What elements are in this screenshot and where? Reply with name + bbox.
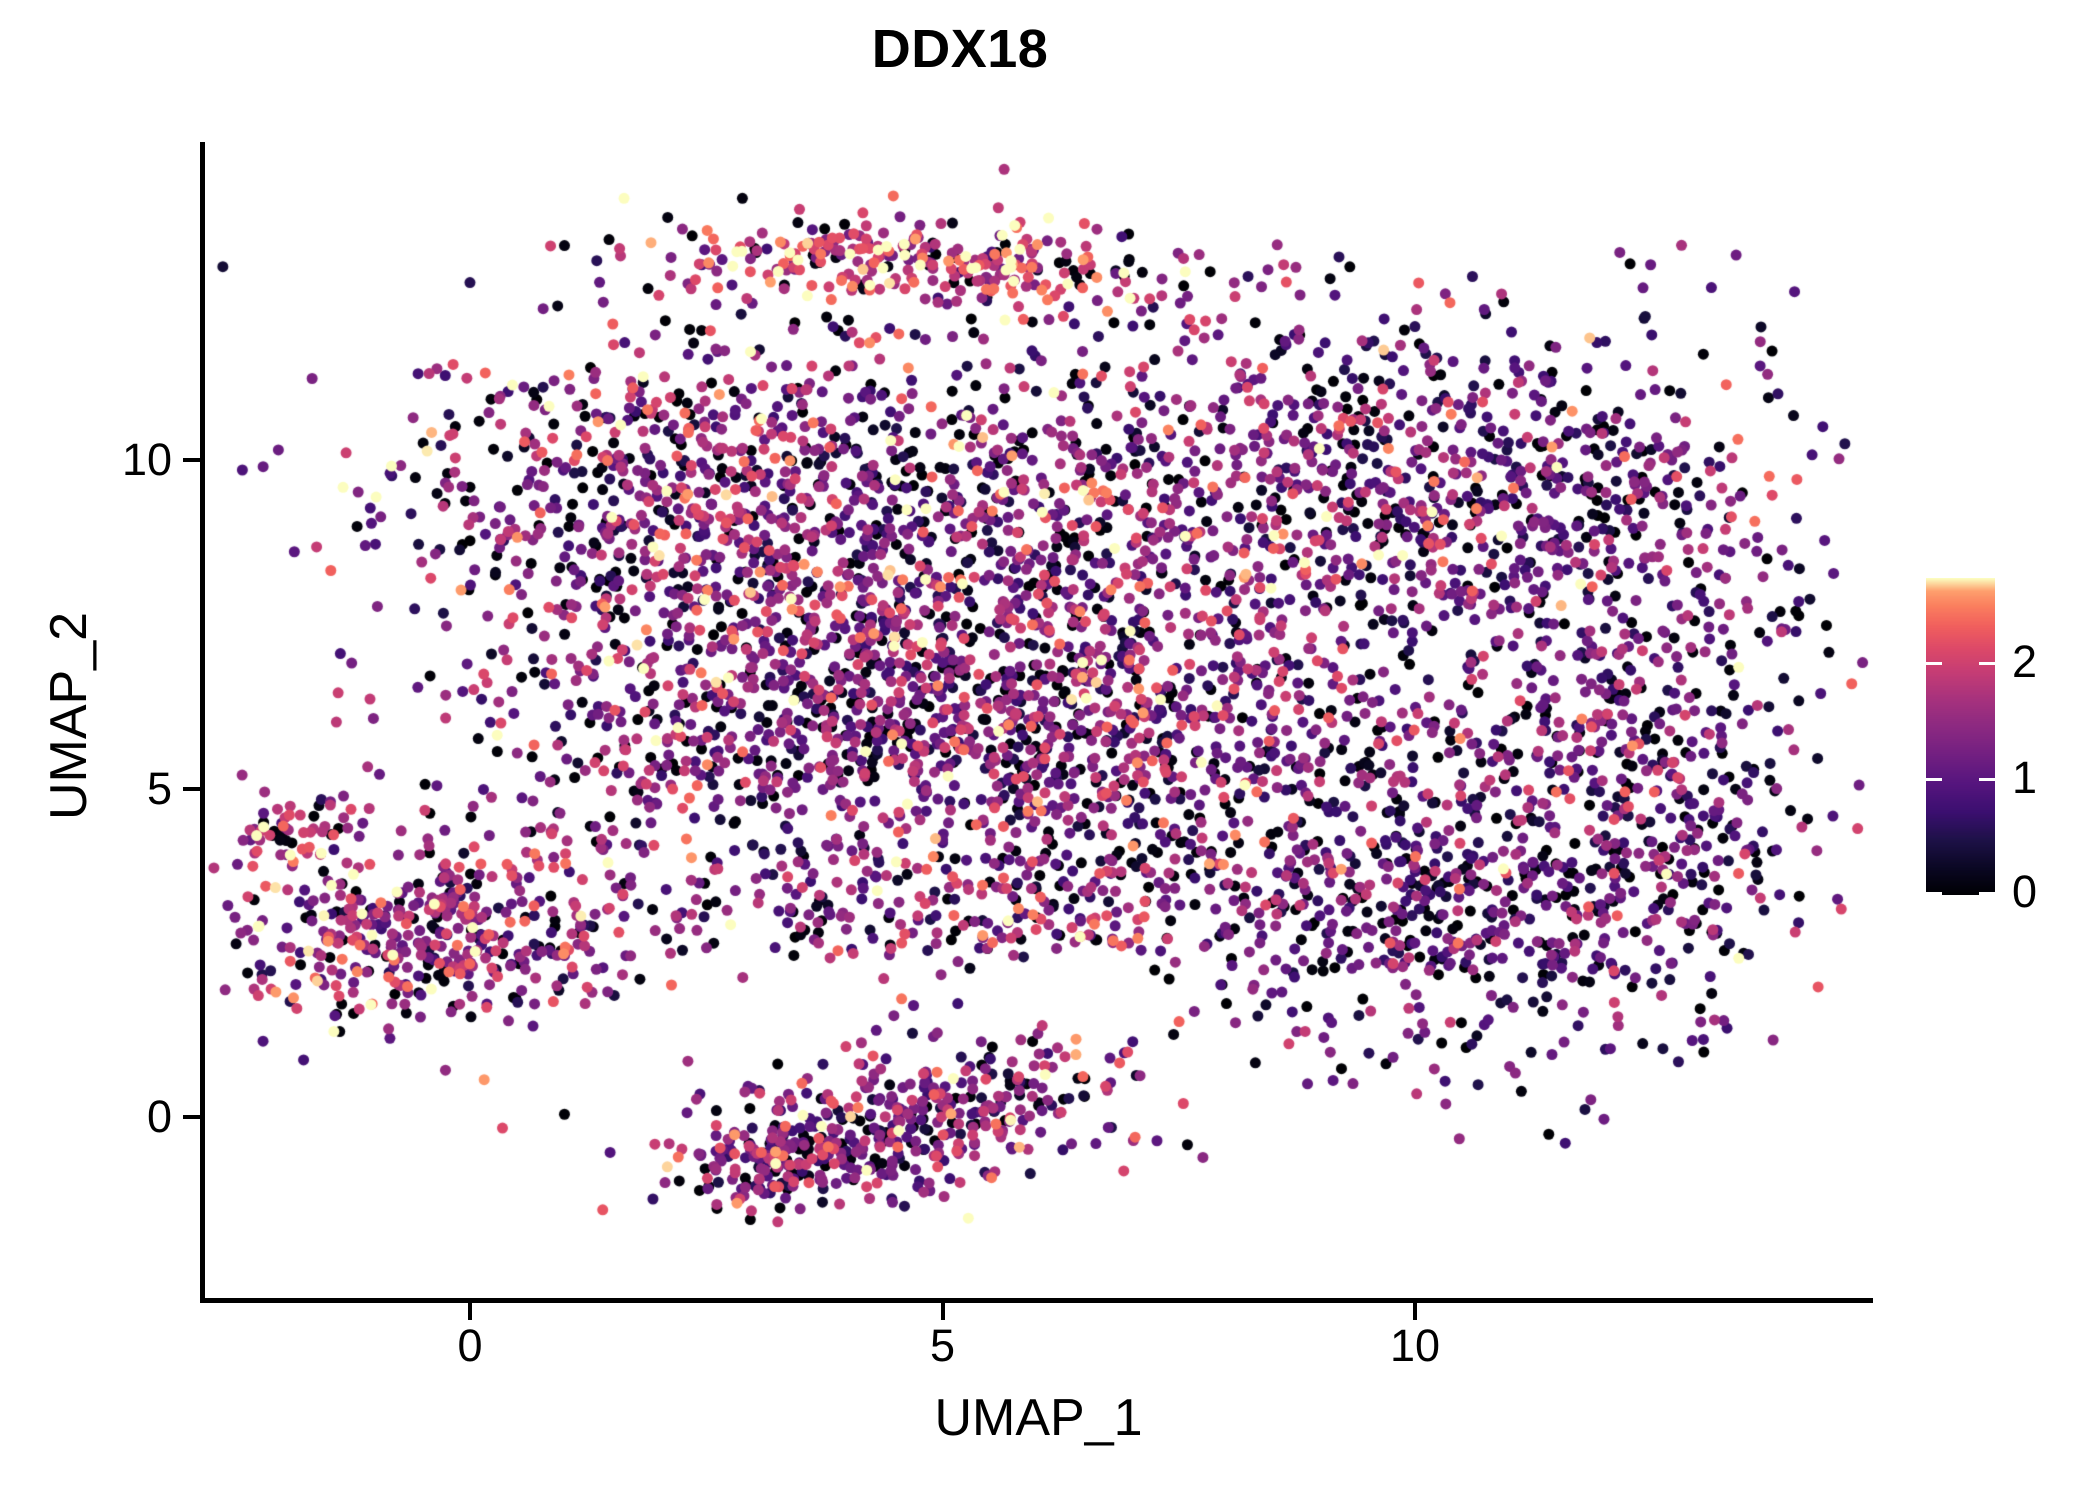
colorbar-gradient — [1926, 578, 1995, 895]
colorbar-tick-mark — [1926, 662, 1942, 665]
y-axis-title: UMAP_2 — [43, 137, 95, 1295]
plot-panel — [204, 142, 1873, 1300]
y-tick-mark — [183, 1115, 200, 1119]
y-axis-line — [200, 142, 205, 1303]
x-tick-mark — [941, 1303, 945, 1320]
colorbar-tick-mark — [1926, 892, 1942, 895]
page-title: DDX18 — [0, 22, 1920, 76]
x-axis-title: UMAP_1 — [204, 1392, 1873, 1444]
x-tick-mark — [468, 1303, 472, 1320]
colorbar-tick-label: 1 — [2012, 755, 2037, 800]
x-tick-label: 0 — [390, 1323, 550, 1368]
x-axis-line — [200, 1298, 1873, 1303]
colorbar-tick-label: 0 — [2012, 869, 2037, 914]
y-tick-mark — [183, 458, 200, 462]
colorbar-legend: 012 — [1926, 578, 2096, 898]
x-tick-mark — [1413, 1303, 1417, 1320]
colorbar-tick-mark — [1979, 778, 1995, 781]
chart-root: DDX18 0510 0510 UMAP_1 UMAP_2 012 — [0, 0, 2100, 1500]
scatter-plot-canvas — [204, 142, 1873, 1300]
colorbar-tick-mark — [1979, 892, 1995, 895]
y-tick-mark — [183, 787, 200, 791]
colorbar-tick-mark — [1926, 778, 1942, 781]
colorbar-tick-mark — [1979, 662, 1995, 665]
colorbar-tick-label: 2 — [2012, 639, 2037, 684]
x-tick-label: 10 — [1335, 1323, 1495, 1368]
x-tick-label: 5 — [863, 1323, 1023, 1368]
